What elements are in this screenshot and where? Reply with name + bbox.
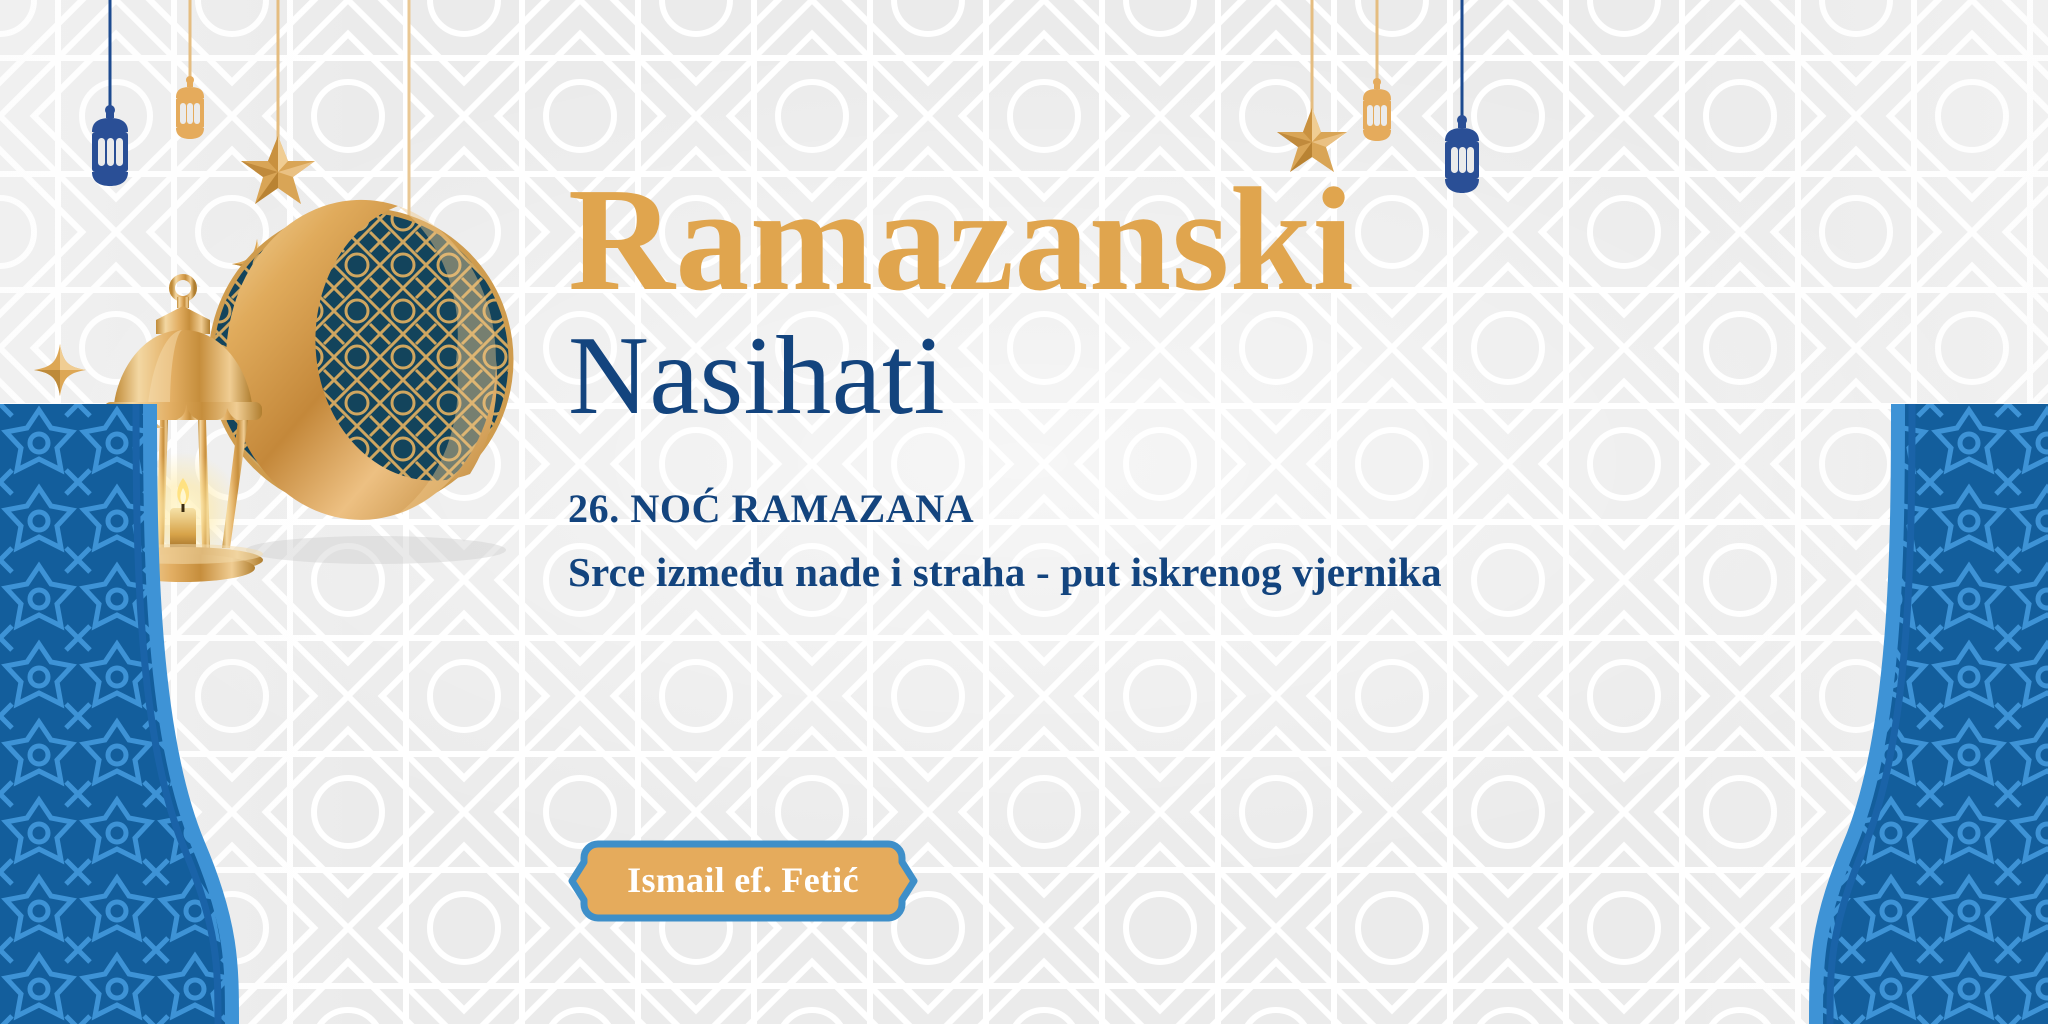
hanging-lantern-gold-right	[1352, 0, 1402, 165]
arabesque-corner-left	[0, 404, 430, 1024]
hanging-lantern-navy-left	[80, 0, 140, 195]
hanging-lantern-gold-left	[165, 0, 215, 155]
badge-shape	[568, 836, 918, 926]
page-title: Ramazanski	[568, 168, 1908, 313]
night-number-label: 26. NOĆ RAMAZANA	[568, 485, 1908, 532]
ramadan-banner: Ramazanski Nasihati 26. NOĆ RAMAZANA Src…	[0, 0, 2048, 1024]
page-subtitle: Nasihati	[568, 319, 1908, 433]
tagline-text: Srce između nade i straha - put iskrenog…	[568, 548, 1908, 596]
poster-text-block: Ramazanski Nasihati 26. NOĆ RAMAZANA Src…	[568, 168, 1908, 596]
speaker-badge: Ismail ef. Fetić	[568, 836, 918, 926]
